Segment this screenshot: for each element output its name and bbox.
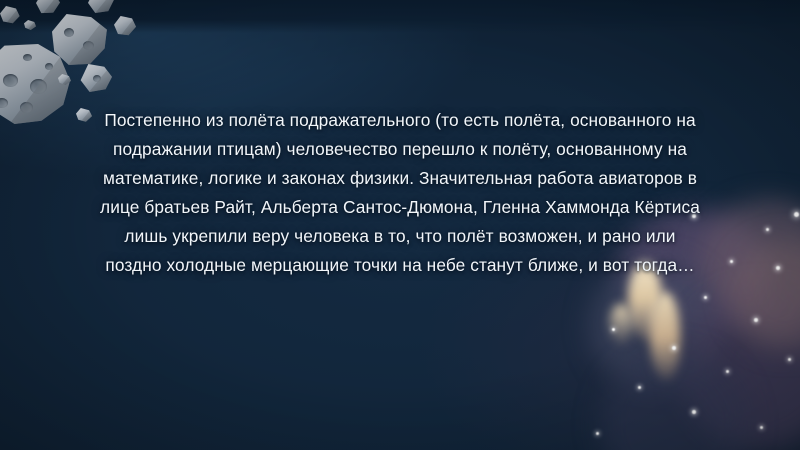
star bbox=[766, 228, 769, 231]
star bbox=[672, 346, 676, 350]
star bbox=[612, 328, 615, 331]
asteroid-small-icon bbox=[24, 20, 36, 30]
nebula-bright-core bbox=[610, 304, 632, 344]
crater bbox=[45, 63, 53, 70]
crater bbox=[64, 28, 74, 37]
star bbox=[788, 358, 791, 361]
star bbox=[692, 410, 696, 414]
asteroid-small-icon bbox=[0, 6, 20, 24]
crater bbox=[23, 54, 32, 61]
crater bbox=[93, 75, 101, 82]
asteroid-small-icon bbox=[114, 16, 136, 36]
crater bbox=[20, 102, 33, 113]
nebula-bright-core bbox=[650, 292, 680, 380]
crater bbox=[83, 41, 94, 50]
star bbox=[638, 386, 641, 389]
presentation-slide: Постепенно из полёта подражательного (то… bbox=[0, 0, 800, 450]
star bbox=[596, 432, 599, 435]
star bbox=[794, 212, 799, 217]
crater bbox=[30, 79, 47, 94]
star bbox=[726, 370, 729, 373]
star bbox=[776, 266, 780, 270]
star bbox=[704, 296, 707, 299]
crater bbox=[3, 74, 18, 87]
star bbox=[754, 318, 758, 322]
asteroid-small-icon bbox=[76, 108, 92, 122]
slide-body-text: Постепенно из полёта подражательного (то… bbox=[96, 106, 704, 280]
asteroid-small-icon bbox=[36, 0, 60, 14]
star bbox=[760, 426, 763, 429]
star bbox=[730, 260, 733, 263]
asteroid-small-icon bbox=[80, 64, 112, 92]
asteroid-small-icon bbox=[88, 0, 114, 13]
crater bbox=[0, 98, 8, 108]
